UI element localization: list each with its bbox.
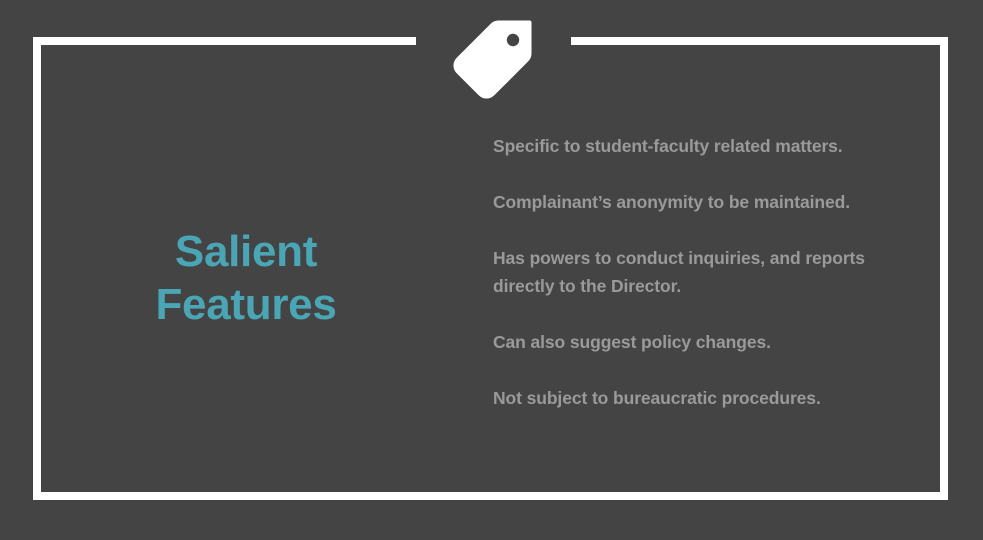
list-item: Has powers to conduct inquiries, and rep… <box>493 244 923 300</box>
slide-canvas: Salient Features Specific to student-fac… <box>0 0 983 540</box>
frame-border-bottom <box>33 492 948 500</box>
tag-icon <box>445 12 540 107</box>
page-title-line-1: Salient <box>60 225 432 278</box>
frame-border-top-left <box>33 37 416 45</box>
frame-border-top-right <box>571 37 948 45</box>
list-item: Not subject to bureaucratic procedures. <box>493 384 923 412</box>
list-item: Can also suggest policy changes. <box>493 328 923 356</box>
features-list: Specific to student-faculty related matt… <box>493 132 923 412</box>
list-item: Complainant’s anonymity to be maintained… <box>493 188 923 216</box>
page-title-line-2: Features <box>60 278 432 331</box>
frame-border-right <box>940 37 948 500</box>
list-item: Specific to student-faculty related matt… <box>493 132 923 160</box>
frame-border-left <box>33 37 41 500</box>
page-title: Salient Features <box>60 225 432 331</box>
